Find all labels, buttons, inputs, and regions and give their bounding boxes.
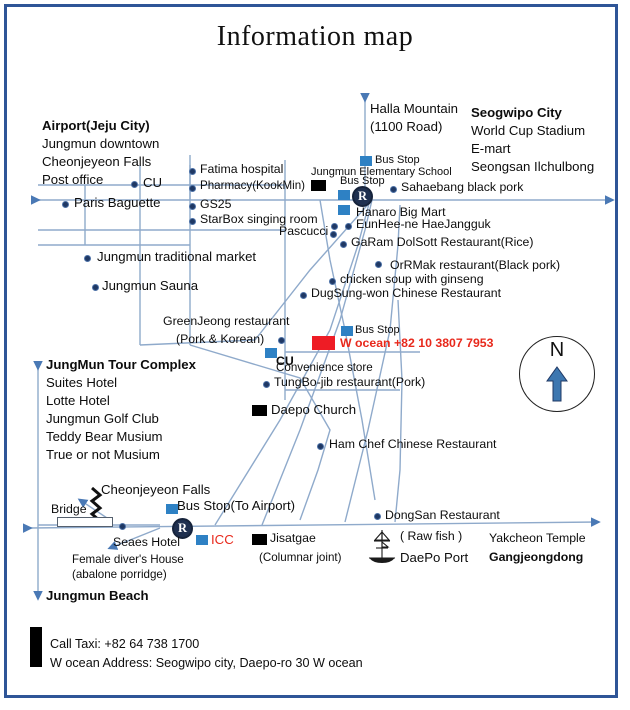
label-ormak: OrRMak restaurant(Black pork) [390, 259, 560, 272]
poi-dot-garam[interactable] [340, 241, 347, 248]
sailing-ship-icon [365, 528, 399, 568]
seogwipo-item-1: E-mart [471, 142, 511, 156]
label-bus-stop-top: Bus Stop [375, 155, 420, 167]
compass-north-label: N [520, 339, 594, 362]
bus-stop-marker-wocean[interactable] [341, 326, 353, 336]
label-tungbo: TungBo-jib restaurant(Pork) [274, 376, 425, 389]
heading-yakcheon-temple: Yakcheon Temple [489, 532, 586, 545]
label-ham-chef: Ham Chef Chinese Restaurant [329, 438, 496, 451]
rotary-marker-jungmun[interactable]: R [352, 186, 373, 207]
poi-dot-sahaebang[interactable] [390, 186, 397, 193]
poi-dot-chicken-soup[interactable] [329, 278, 336, 285]
label-icc: ICC [211, 533, 234, 547]
heading-halla-mountain: Halla Mountain [370, 102, 458, 116]
label-gs25: GS25 [200, 198, 231, 211]
tour-item-2: Jungmun Golf Club [46, 412, 159, 426]
label-abalone-porridge: (abalone porridge) [72, 569, 167, 581]
label-fatima-hospital: Fatima hospital [200, 163, 283, 176]
poi-dot-traditional-market[interactable] [84, 255, 91, 262]
label-eunhee: EunHee-ne HaeJangguk [356, 218, 491, 231]
tour-item-1: Lotte Hotel [46, 394, 110, 408]
airport-item-0: Jungmun downtown [42, 137, 159, 151]
label-chicken-soup: chicken soup with ginseng [340, 273, 484, 286]
bridge-shape [57, 517, 113, 527]
poi-dot-fatima[interactable] [189, 168, 196, 175]
info-w-ocean-address: W ocean Address: Seogwipo city, Daepo-ro… [50, 656, 363, 670]
label-sahaebang: Sahaebang black pork [401, 181, 523, 194]
heading-seogwipo-city: Seogwipo City [471, 106, 562, 120]
poi-dot-dongsan[interactable] [374, 513, 381, 520]
label-greenjeong-1: GreenJeong restaurant [163, 315, 289, 328]
poi-dot-pascucci[interactable] [330, 231, 337, 238]
bus-stop-marker-mid[interactable] [338, 190, 350, 200]
poi-dot-seaes-hotel[interactable] [119, 523, 126, 530]
label-female-divers-house: Female diver's House [72, 554, 184, 566]
airport-item-1: Cheonjeyeon Falls [42, 155, 151, 169]
label-daepo-port: DaePo Port [400, 551, 468, 565]
label-raw-fish: ( Raw fish ) [400, 530, 462, 543]
heading-airport: Airport(Jeju City) [42, 119, 150, 133]
poi-dot-starbox[interactable] [189, 218, 196, 225]
label-bus-stop-airport: Bus Stop(To Airport) [177, 499, 295, 513]
poi-dot-dugsung[interactable] [300, 292, 307, 299]
label-jungmun-sauna: Jungmun Sauna [102, 279, 198, 293]
label-daepo-church: Daepo Church [271, 403, 356, 417]
landmark-jisatgae[interactable] [252, 534, 267, 545]
airport-item-2: Post office [42, 173, 103, 187]
heading-gangjeongdong: Gangjeongdong [489, 551, 583, 564]
info-box-bar [30, 627, 42, 667]
poi-dot-jungmun-sauna[interactable] [92, 284, 99, 291]
label-w-ocean: W ocean +82 10 3807 7953 [340, 337, 493, 350]
poi-dot-ham-chef[interactable] [317, 443, 324, 450]
icc-marker[interactable] [196, 535, 208, 545]
north-arrow-icon [544, 365, 570, 405]
label-dugsung: DugSung-won Chinese Restaurant [311, 287, 501, 300]
tour-item-4: True or not Musium [46, 448, 160, 462]
bus-stop-marker-mid2[interactable] [338, 205, 350, 215]
label-pascucci: Pascucci [279, 225, 328, 238]
label-cu-nw: CU [143, 176, 162, 190]
tour-item-3: Teddy Bear Musium [46, 430, 163, 444]
label-bridge: Bridge [51, 503, 87, 516]
compass-rose: N [519, 336, 595, 412]
label-cheonjeyeon-falls: Cheonjeyeon Falls [101, 483, 210, 497]
label-convenience-store: Convenience store [276, 362, 373, 374]
label-traditional-market: Jungmun traditional market [97, 250, 256, 264]
poi-dot-ormak[interactable] [375, 261, 382, 268]
label-pharmacy: Pharmacy(KookMin) [200, 180, 305, 192]
poi-dot-cu-nw[interactable] [131, 181, 138, 188]
landmark-daepo-church[interactable] [252, 405, 267, 416]
tour-item-0: Suites Hotel [46, 376, 117, 390]
label-bus-stop-wocean: Bus Stop [355, 325, 400, 337]
poi-dot-gs25[interactable] [189, 203, 196, 210]
seogwipo-item-2: Seongsan Ilchulbong [471, 160, 594, 174]
poi-dot-paris-baguette[interactable] [62, 201, 69, 208]
label-seaes-hotel: Seaes Hotel [113, 536, 180, 549]
info-call-taxi: Call Taxi: +82 64 738 1700 [50, 637, 199, 651]
poi-dot-greenjeong[interactable] [278, 337, 285, 344]
poi-dot-pharmacy[interactable] [189, 185, 196, 192]
label-paris-baguette: Paris Baguette [74, 196, 161, 210]
label-garam: GaRam DolSott Restaurant(Rice) [351, 236, 533, 249]
label-columnar-joint: (Columnar joint) [259, 552, 341, 564]
halla-mountain-sub: (1100 Road) [370, 120, 442, 134]
label-greenjeong-2: (Pork & Korean) [176, 333, 264, 346]
label-dongsan-restaurant: DongSan Restaurant [385, 509, 500, 522]
poi-dot-eunhee[interactable] [345, 223, 352, 230]
w-ocean-marker[interactable] [312, 336, 335, 350]
poi-dot-tungbo[interactable] [263, 381, 270, 388]
landmark-jungmun-elementary-school[interactable] [311, 180, 326, 191]
bus-stop-marker-top[interactable] [360, 156, 372, 166]
heading-jungmun-beach: Jungmun Beach [46, 589, 149, 603]
seogwipo-item-0: World Cup Stadium [471, 124, 585, 138]
poi-dot-eunhee-a[interactable] [331, 223, 338, 230]
heading-jungmun-tour-complex: JungMun Tour Complex [46, 358, 196, 372]
label-jisatgae: Jisatgae [270, 532, 316, 545]
